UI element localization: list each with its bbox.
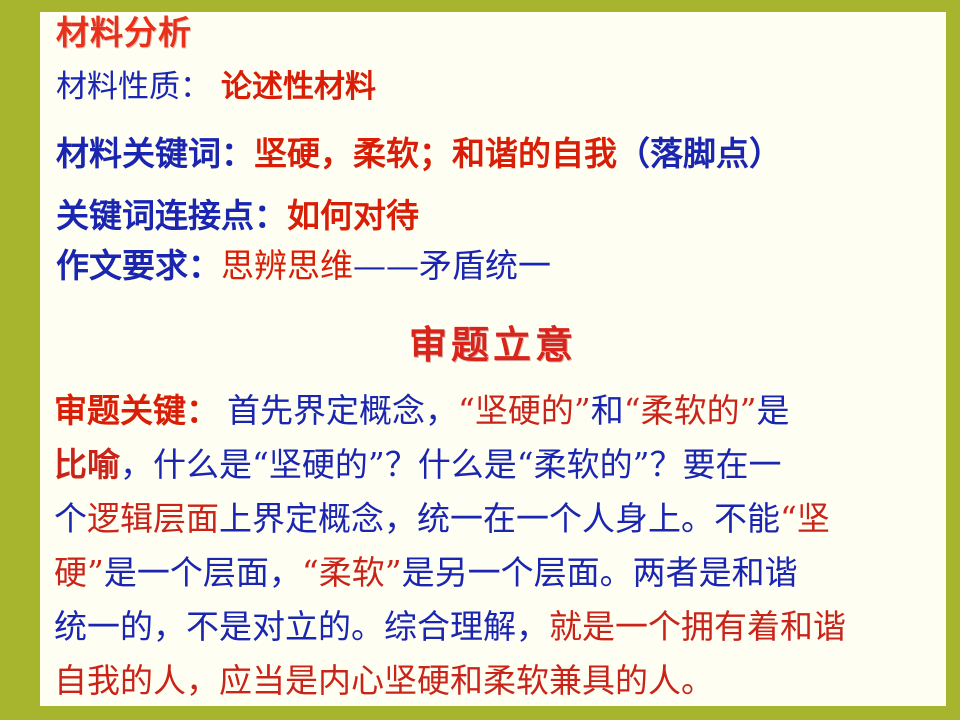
body-paragraph: 审题关键：首先界定概念，“坚硬的”和“柔软的”是 比喻，什么是“坚硬的”？什么是… [54,384,938,706]
body-text: 上界定概念，统一在一个人身上。不能 [219,499,780,538]
emphasis-term: 比喻 [54,445,120,484]
body-line: 比喻，什么是“坚硬的”？什么是“柔软的”？要在一 [54,438,938,492]
quoted-term: 硬” [54,553,104,592]
body-text: 首先界定概念， [227,391,458,430]
body-text: 和 [591,391,624,430]
material-keywords-label: 材料关键词： [56,134,254,173]
section-heading-material-analysis: 材料分析 [56,14,192,52]
material-keywords-value: 坚硬，柔软；和谐的自我 [254,134,617,173]
section-heading-topic-analysis: 审题立意 [40,314,946,369]
row-essay-requirement: 作文要求：思辨思维——矛盾统一 [56,248,551,284]
material-property-value: 论述性材料 [221,69,376,105]
slide-canvas: 材料分析 材料性质：论述性材料 材料关键词：坚硬，柔软；和谐的自我（落脚点） 关… [40,12,946,706]
row-material-keywords: 材料关键词：坚硬，柔软；和谐的自我（落脚点） [56,136,782,172]
quoted-term: “坚硬的” [458,391,591,430]
material-property-label: 材料性质： [56,69,211,105]
essay-requirement-value: 思辨思维 [221,246,353,285]
quoted-term: “柔软的” [624,391,757,430]
keyword-link-label: 关键词连接点： [56,196,287,235]
body-text: 个 [54,499,87,538]
quoted-term: “柔软” [302,553,402,592]
quoted-term: “坚 [780,499,830,538]
body-line: 审题关键：首先界定概念，“坚硬的”和“柔软的”是 [54,384,938,438]
keyword-link-value: 如何对待 [287,196,419,235]
emphasis-term: 逻辑层面 [87,499,219,538]
body-text: 统一的，不是对立的。综合理解， [54,607,549,646]
essay-requirement-label: 作文要求： [56,246,221,285]
body-line: 自我的人，应当是内心坚硬和柔软兼具的人。 [54,654,938,706]
body-text: 是一个层面， [104,553,302,592]
row-material-property: 材料性质：论述性材料 [56,70,376,104]
body-text: ，什么是“坚硬的”？什么是“柔软的”？要在一 [120,445,781,484]
slide-frame: 材料分析 材料性质：论述性材料 材料关键词：坚硬，柔软；和谐的自我（落脚点） 关… [0,0,960,720]
body-line: 个逻辑层面上界定概念，统一在一个人身上。不能“坚 [54,492,938,546]
body-label: 审题关键： [54,391,219,430]
body-line: 统一的，不是对立的。综合理解，就是一个拥有着和谐 [54,600,938,654]
row-keyword-link: 关键词连接点：如何对待 [56,198,419,234]
body-text: 是另一个层面。两者是和谐 [402,553,798,592]
body-line: 硬”是一个层面，“柔软”是另一个层面。两者是和谐 [54,546,938,600]
emphasis-term: 就是一个拥有着和谐 [549,607,846,646]
emphasis-term: 自我的人，应当是内心坚硬和柔软兼具的人。 [54,661,714,700]
body-text: 是 [757,391,790,430]
material-keywords-note: （落脚点） [617,134,782,173]
essay-requirement-tail: ——矛盾统一 [353,246,551,285]
